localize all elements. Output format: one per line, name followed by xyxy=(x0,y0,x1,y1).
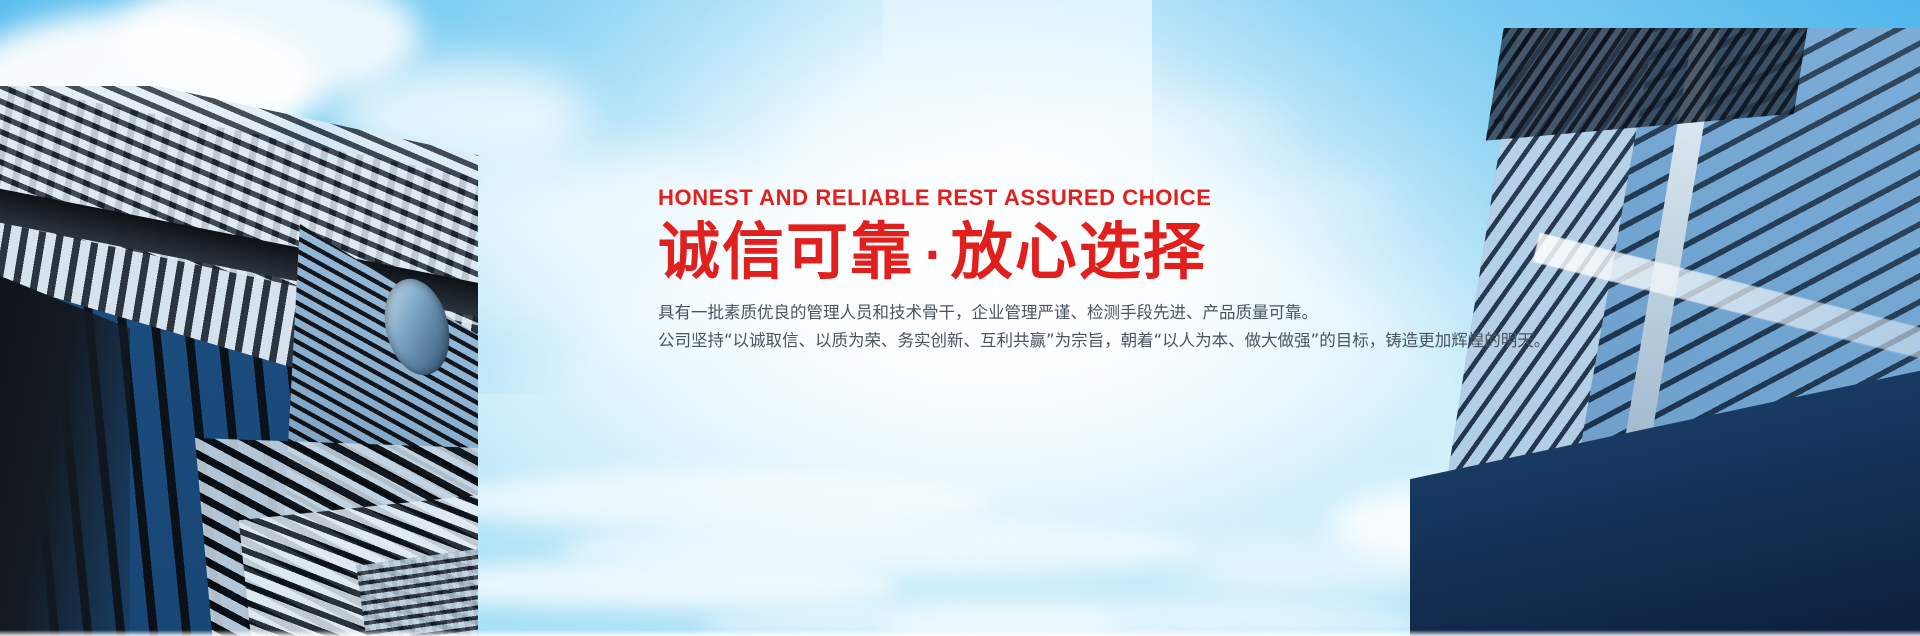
cloud xyxy=(960,95,1290,161)
headline-part-1: 诚信可靠 xyxy=(658,215,914,288)
banner-body-line-2: 公司坚持“以诚取信、以质为荣、务实创新、互利共赢”为宗旨，朝着“以人为本、做大做… xyxy=(658,327,1618,355)
banner-copy-block: HONEST AND RELIABLE REST ASSURED CHOICE … xyxy=(658,185,1618,355)
hero-banner: HONEST AND RELIABLE REST ASSURED CHOICE … xyxy=(0,0,1920,636)
headline-part-2: 放心选择 xyxy=(951,215,1207,288)
banner-body-line-1: 具有一批素质优良的管理人员和技术骨干，企业管理严谨、检测手段先进、产品质量可靠。 xyxy=(658,299,1618,327)
bottom-fade xyxy=(0,630,1920,636)
left-skyscraper xyxy=(0,86,478,636)
banner-eyebrow-english: HONEST AND RELIABLE REST ASSURED CHOICE xyxy=(658,185,1618,211)
banner-headline: 诚信可靠·放心选择 xyxy=(658,219,1618,285)
headline-separator-dot: · xyxy=(914,230,951,281)
